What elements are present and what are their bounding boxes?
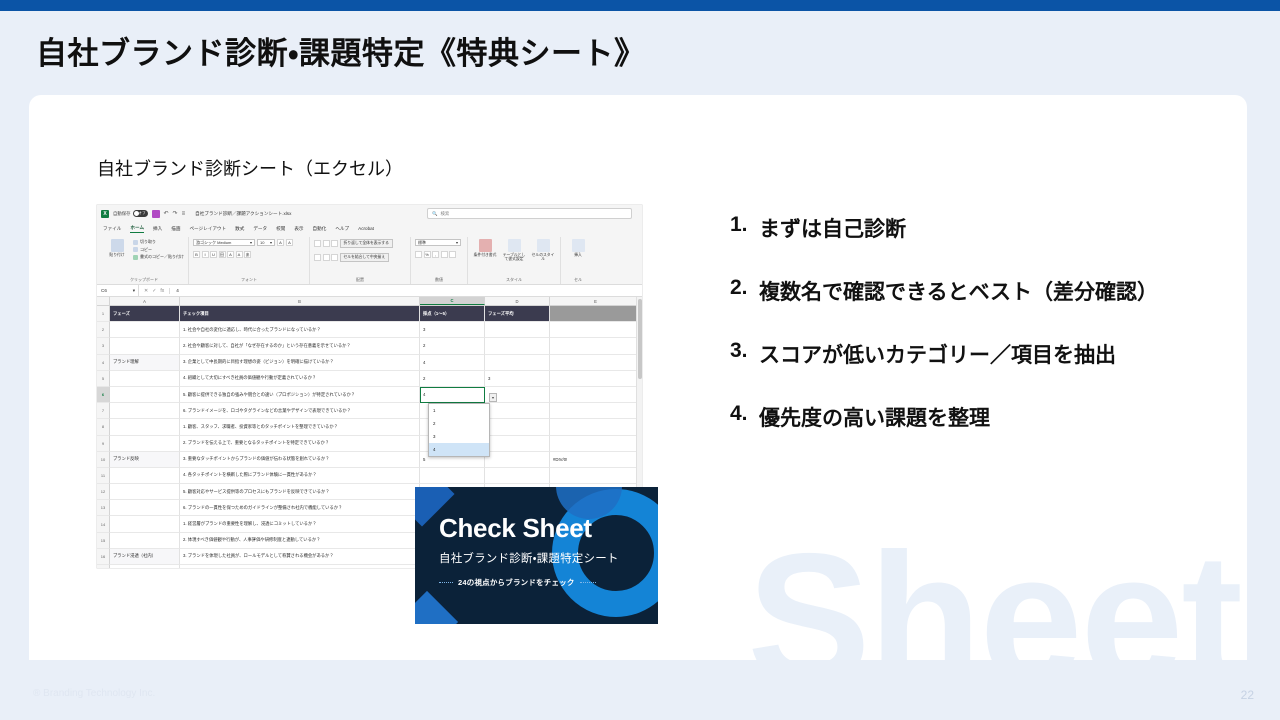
decorative-diamond-bottom-left xyxy=(415,591,458,624)
phonetic-button[interactable]: あ xyxy=(244,251,251,258)
row-header[interactable]: 1 xyxy=(97,306,110,322)
list-item-number: 1. xyxy=(730,213,759,237)
align-middle-button[interactable] xyxy=(323,240,330,247)
cancel-icon[interactable]: ✕ xyxy=(144,288,148,294)
copy-label: コピー xyxy=(140,247,152,253)
cell-phase[interactable] xyxy=(110,484,180,500)
cell-phase[interactable] xyxy=(110,533,180,549)
format-painter-button[interactable]: 書式のコピー／貼り付け xyxy=(133,254,184,260)
ribbon-tab-help[interactable]: ヘルプ xyxy=(335,226,349,232)
row-header[interactable]: 5 xyxy=(97,371,110,387)
footer-copyright: ® Branding Technology Inc. xyxy=(33,688,155,699)
cell-extra[interactable] xyxy=(550,468,642,484)
cell-check-item[interactable]: 4. 中間層がブランドを自分事として捉え、自らの言葉で語れる状態になっているか？ xyxy=(180,565,420,568)
ribbon-tab-home[interactable]: ホーム xyxy=(130,225,144,233)
list-item-text: まずは自己診断 xyxy=(759,213,906,243)
cell-check-item[interactable]: 3. 重要なタッチポイントからブランドの価値が伝わる状態を創れているか？ xyxy=(180,452,420,468)
table-row: 65. 顧客に提供できる独自の強みや競合との違い（プロポジション）が特定されてい… xyxy=(97,387,642,403)
list-item-number: 4. xyxy=(730,402,759,426)
font-color-button[interactable]: A xyxy=(236,251,243,258)
align-center-button[interactable] xyxy=(323,254,330,261)
wrap-text-button[interactable]: 折り返して全体を表示する xyxy=(340,239,393,248)
number-group-label: 数値 xyxy=(415,277,463,284)
font-grow-button[interactable]: A xyxy=(277,239,284,246)
copy-button[interactable]: コピー xyxy=(133,247,184,253)
row-header[interactable]: 10 xyxy=(97,452,110,468)
ribbon-tab-formulas[interactable]: 数式 xyxy=(235,226,244,232)
paintbrush-icon xyxy=(133,255,138,260)
column-headers: A B C D E xyxy=(97,297,642,306)
cell-check-item[interactable]: 1. 経営層がブランドの重要性を理解し、浸透にコミットしているか？ xyxy=(180,516,420,532)
ribbon-group-clipboard: 貼り付け 切り取り コピー xyxy=(100,237,189,284)
font-family-value: 游ゴシック Medium xyxy=(196,240,231,246)
row-header[interactable]: 12 xyxy=(97,484,110,500)
row-header[interactable]: 16 xyxy=(97,549,110,565)
list-item-number: 3. xyxy=(730,339,759,363)
check-sheet-title: Check Sheet xyxy=(439,515,658,541)
cell-check-item[interactable]: 2. 体現すべき価値観や行動が、人事評価や研修制度と連動しているか？ xyxy=(180,533,420,549)
cell-score[interactable]: 採点（1～5） xyxy=(420,306,485,322)
ribbon-group-alignment: 折り返して全体を表示する セルを結合して中央揃え 配置 xyxy=(310,237,411,284)
points-list: 1. まずは自己診断 2. 複数名で確認できるとベスト（差分確認） 3. スコア… xyxy=(730,213,1247,465)
paste-icon xyxy=(111,239,124,252)
slide-root: 自社ブランド診断・課題特定《特典シート》 Sheet 自社ブランド診断シート（エ… xyxy=(0,0,1280,720)
underline-button[interactable]: U xyxy=(210,251,217,258)
cell-extra[interactable] xyxy=(550,436,642,452)
cell-phase[interactable] xyxy=(110,419,180,435)
row-header[interactable]: 2 xyxy=(97,322,110,338)
table-icon xyxy=(508,239,521,252)
cell-score[interactable] xyxy=(420,468,485,484)
list-item: 1. まずは自己診断 xyxy=(730,213,1247,243)
excel-search-box[interactable]: 🔍 検索 xyxy=(427,208,632,219)
cell-score[interactable]: 3 xyxy=(420,322,485,338)
cut-button[interactable]: 切り取り xyxy=(133,239,184,245)
cell-extra[interactable] xyxy=(550,403,642,419)
format-as-table-button[interactable]: テーブルとして書式設定 xyxy=(501,239,527,262)
validation-dropdown[interactable]: 1 2 3 4 xyxy=(428,403,490,457)
search-placeholder: 検索 xyxy=(440,211,449,217)
table-row: 76. ブランドイメージを、ロゴやタグラインなどの言葉やデザインで表現できている… xyxy=(97,403,642,419)
select-all-corner[interactable] xyxy=(97,297,110,305)
currency-button[interactable] xyxy=(415,251,422,258)
chevron-down-icon: ▾ xyxy=(270,240,272,245)
cell-phase[interactable] xyxy=(110,338,180,354)
list-item: 4. 優先度の高い課題を整理 xyxy=(730,402,1247,432)
row-header[interactable]: 15 xyxy=(97,533,110,549)
cell-phase[interactable] xyxy=(110,403,180,419)
table-row: 10ブランド反映3. 重要なタッチポイントからブランドの価値が伝わる状態を創れて… xyxy=(97,452,642,468)
align-top-button[interactable] xyxy=(314,240,321,247)
cell-phase[interactable]: ブランド浸透（社内） xyxy=(110,549,180,565)
page-title: 自社ブランド診断・課題特定《特典シート》 xyxy=(36,28,646,73)
excel-caption: 自社ブランド診断シート（エクセル） xyxy=(97,155,403,181)
cell-extra[interactable]: #DIV/0! xyxy=(550,452,642,468)
ribbon-tab-automate[interactable]: 自動化 xyxy=(313,226,327,232)
cell-average[interactable] xyxy=(485,338,550,354)
content-card: Sheet 自社ブランド診断シート（エクセル） X 自動保存 オフ ↶ ↷ ≡ … xyxy=(29,95,1247,660)
cell-average[interactable]: フェーズ平均 xyxy=(485,306,550,322)
save-icon[interactable] xyxy=(152,210,160,218)
cell-check-item[interactable]: 1. 社会や自社の変化に適応し、時代に合ったブランドになっているか？ xyxy=(180,322,420,338)
table-row: 114. 各タッチポイントを横断した際にブランド体験に一貫性があるか？ xyxy=(97,468,642,484)
conditional-format-icon xyxy=(479,239,492,252)
search-icon: 🔍 xyxy=(432,211,437,217)
page-number: 22 xyxy=(1241,688,1254,702)
cell-phase[interactable]: フェーズ xyxy=(110,306,180,322)
enter-icon[interactable]: ✓ xyxy=(152,288,156,294)
paste-label: 貼り付け xyxy=(109,253,124,257)
merge-center-button[interactable]: セルを結合して中央揃え xyxy=(340,253,390,262)
number-format-value: 標準 xyxy=(418,240,426,246)
align-left-button[interactable] xyxy=(314,254,321,261)
cell-check-item[interactable]: 5. 顧客に提供できる独自の強みや競合との違い（プロポジション）が特定されている… xyxy=(180,387,420,403)
cell-phase[interactable] xyxy=(110,322,180,338)
conditional-format-label: 条件付き書式 xyxy=(474,253,497,257)
row-header[interactable]: 8 xyxy=(97,419,110,435)
ribbon-tab-data[interactable]: データ xyxy=(253,226,267,232)
copy-icon xyxy=(133,247,138,252)
font-size-select[interactable]: 10 ▾ xyxy=(257,239,275,246)
table-row: 21. 社会や自社の変化に適応し、時代に合ったブランドになっているか？3 xyxy=(97,322,642,338)
insert-cells-label: 挿入 xyxy=(574,253,582,257)
alignment-group-label: 配置 xyxy=(314,277,406,284)
cell-extra[interactable] xyxy=(550,371,642,387)
cell-extra[interactable] xyxy=(550,338,642,354)
chevron-down-icon: ▾ xyxy=(456,240,458,245)
cell-check-item[interactable]: 5. 顧客対応やサービス提供等のプロセスにもブランドを反映できているか？ xyxy=(180,484,420,500)
row-header[interactable]: 9 xyxy=(97,436,110,452)
row-header[interactable]: 13 xyxy=(97,500,110,516)
table-row: 54. 組織として大切にすべき社員の価値観や行動が定義されているか？23 xyxy=(97,371,642,387)
top-accent-bar xyxy=(0,0,1280,11)
list-item-number: 2. xyxy=(730,276,759,300)
row-header[interactable]: 4 xyxy=(97,355,110,371)
font-shrink-button[interactable]: A xyxy=(286,239,293,246)
qat-more-icon[interactable]: ≡ xyxy=(182,211,186,217)
ribbon-tab-acrobat[interactable]: Acrobat xyxy=(358,226,374,231)
column-header-b[interactable]: B xyxy=(180,297,420,305)
formula-bar-controls: ✕ ✓ fx xyxy=(139,288,170,294)
ribbon-group-cells: 挿入 セル xyxy=(561,237,595,284)
insert-function-icon[interactable]: fx xyxy=(160,288,164,294)
cell-styles-button[interactable]: セルのスタイル xyxy=(530,239,556,262)
ribbon-group-number: 標準 ▾ % , 数値 xyxy=(411,237,468,284)
cell-phase[interactable]: ブランド理解 xyxy=(110,355,180,371)
ribbon-tab-review[interactable]: 校閲 xyxy=(276,226,285,232)
chevron-down-icon: ▾ xyxy=(133,288,135,294)
format-as-table-label: テーブルとして書式設定 xyxy=(501,253,527,262)
cell-phase[interactable] xyxy=(110,468,180,484)
cell-phase[interactable]: ブランド反映 xyxy=(110,452,180,468)
cut-label: 切り取り xyxy=(140,239,156,245)
cell-phase[interactable] xyxy=(110,500,180,516)
dropdown-option-4[interactable]: 4 xyxy=(429,443,489,456)
cell-check-item[interactable]: 2. ブランドを伝える上で、重要となるタッチポイントを特定できているか？ xyxy=(180,436,420,452)
dropdown-option-1[interactable]: 1 xyxy=(429,404,489,417)
conditional-format-button[interactable]: 条件付き書式 xyxy=(472,239,498,257)
row-header[interactable]: 14 xyxy=(97,516,110,532)
table-row: 4ブランド理解3. 企業として中長期的に目指す理想の姿（ビジョン）を明確に描けて… xyxy=(97,355,642,371)
align-bottom-button[interactable] xyxy=(331,240,338,247)
table-row: 32. 社会や顧客に対して、自社が「なぜ存在するのか」という存在意義を示せている… xyxy=(97,338,642,354)
scissors-icon xyxy=(133,240,138,245)
fill-color-button[interactable]: A xyxy=(227,251,234,258)
cell-phase[interactable] xyxy=(110,387,180,403)
cell-extra[interactable] xyxy=(550,322,642,338)
name-box[interactable]: C6 ▾ xyxy=(97,285,139,296)
cell-average[interactable] xyxy=(485,419,550,435)
formula-bar: C6 ▾ ✕ ✓ fx 4 xyxy=(97,285,642,297)
list-item: 3. スコアが低いカテゴリー／項目を抽出 xyxy=(730,339,1247,369)
borders-button[interactable]: 田 xyxy=(219,251,226,258)
autosave-toggle[interactable]: オフ xyxy=(133,210,148,217)
list-item-text: 複数名で確認できるとベスト（差分確認） xyxy=(759,276,1158,306)
cell-extra[interactable] xyxy=(550,419,642,435)
watermark-text: Sheet xyxy=(747,527,1241,660)
cell-styles-label: セルのスタイル xyxy=(530,253,556,262)
ribbon-group-styles: 条件付き書式 テーブルとして書式設定 セルのスタイル スタイル xyxy=(468,237,561,284)
cell-check-item[interactable]: 1. 顧客、スタッフ、求職者、投資家等とのタッチポイントを整理できているか？ xyxy=(180,419,420,435)
bold-button[interactable]: B xyxy=(193,251,200,258)
ribbon-tab-draw[interactable]: 描画 xyxy=(171,226,180,232)
decrease-decimal-button[interactable] xyxy=(449,251,456,258)
cell-average[interactable] xyxy=(485,322,550,338)
list-item-text: 優先度の高い課題を整理 xyxy=(759,402,990,432)
check-sheet-tagline-row: 24の視点からブランドをチェック xyxy=(439,577,658,588)
ribbon: 貼り付け 切り取り コピー xyxy=(97,235,642,285)
autosave-toggle-state: オフ xyxy=(138,211,145,216)
cell-average[interactable]: 3 xyxy=(485,371,550,387)
check-sheet-cover-card: Check Sheet 自社ブランド診断・課題特定シート 24の視点からブランド… xyxy=(415,487,658,624)
font-family-select[interactable]: 游ゴシック Medium ▾ xyxy=(193,239,255,246)
cell-check-item[interactable]: 6. ブランドの一貫性を保つためのガイドラインが整備され社内で機能しているか？ xyxy=(180,500,420,516)
column-header-d[interactable]: D xyxy=(485,297,550,305)
list-item: 2. 複数名で確認できるとベスト（差分確認） xyxy=(730,276,1247,306)
tagline-rule-left xyxy=(439,582,453,583)
autosave-control[interactable]: 自動保存 オフ xyxy=(113,210,148,217)
row-header[interactable]: 7 xyxy=(97,403,110,419)
cell-score[interactable]: 2 xyxy=(420,338,485,354)
excel-app-icon: X xyxy=(101,210,109,218)
validation-dropdown-arrow[interactable]: ▾ xyxy=(489,393,497,402)
table-row: 92. ブランドを伝える上で、重要となるタッチポイントを特定できているか？ xyxy=(97,436,642,452)
ribbon-tab-pagelayout[interactable]: ページレイアウト xyxy=(189,226,226,232)
paste-button[interactable]: 貼り付け xyxy=(104,239,130,257)
cell-average[interactable] xyxy=(485,452,550,468)
ribbon-tab-insert[interactable]: 挿入 xyxy=(153,226,162,232)
tagline-rule-right xyxy=(580,582,596,583)
cell-check-item[interactable]: 6. ブランドイメージを、ロゴやタグラインなどの言葉やデザインで表現できているか… xyxy=(180,403,420,419)
scrollbar-thumb[interactable] xyxy=(638,299,642,379)
cell-score[interactable]: 4 xyxy=(420,355,485,371)
cell-score[interactable]: 4 xyxy=(420,387,485,403)
column-header-a[interactable]: A xyxy=(110,297,180,305)
cell-extra[interactable] xyxy=(550,306,642,322)
cell-score[interactable]: 2 xyxy=(420,371,485,387)
excel-title-bar: X 自動保存 オフ ↶ ↷ ≡ 自社ブランド診断／課題アクションシート.xlsx… xyxy=(97,205,642,222)
format-painter-label: 書式のコピー／貼り付け xyxy=(140,254,184,260)
cell-average[interactable] xyxy=(485,355,550,371)
align-right-button[interactable] xyxy=(331,254,338,261)
row-header[interactable]: 17 xyxy=(97,565,110,568)
cell-check-item[interactable]: 3. 企業として中長期的に目指す理想の姿（ビジョン）を明確に描けているか？ xyxy=(180,355,420,371)
table-row: 81. 顧客、スタッフ、求職者、投資家等とのタッチポイントを整理できているか？ xyxy=(97,419,642,435)
insert-icon xyxy=(572,239,585,252)
formula-input[interactable]: 4 xyxy=(170,288,179,293)
check-sheet-tagline: 24の視点からブランドをチェック xyxy=(458,577,575,588)
cell-check-item[interactable]: 4. 各タッチポイントを横断した際にブランド体験に一貫性があるか？ xyxy=(180,468,420,484)
italic-button[interactable]: I xyxy=(202,251,209,258)
cell-average[interactable] xyxy=(485,436,550,452)
font-size-value: 10 xyxy=(260,240,264,245)
cell-phase[interactable] xyxy=(110,516,180,532)
ribbon-tab-file[interactable]: ファイル xyxy=(103,226,121,232)
cell-styles-icon xyxy=(537,239,550,252)
cell-average[interactable] xyxy=(485,403,550,419)
row-header[interactable]: 6 xyxy=(97,387,110,403)
dropdown-option-3[interactable]: 3 xyxy=(429,430,489,443)
percent-button[interactable]: % xyxy=(424,251,431,258)
row-header[interactable]: 3 xyxy=(97,338,110,354)
cell-extra[interactable] xyxy=(550,387,642,403)
redo-icon[interactable]: ↷ xyxy=(173,210,178,217)
styles-group-label: スタイル xyxy=(472,277,556,284)
undo-icon[interactable]: ↶ xyxy=(164,210,169,217)
ribbon-tabs[interactable]: ファイル ホーム 挿入 描画 ページレイアウト 数式 データ 校閲 表示 自動化… xyxy=(97,222,642,235)
list-item-text: スコアが低いカテゴリー／項目を抽出 xyxy=(759,339,1116,369)
check-sheet-subtitle: 自社ブランド診断・課題特定シート xyxy=(439,550,658,566)
cell-phase[interactable] xyxy=(110,371,180,387)
insert-cells-button[interactable]: 挿入 xyxy=(565,239,591,257)
column-header-e[interactable]: E xyxy=(550,297,642,305)
comma-button[interactable]: , xyxy=(432,251,439,258)
name-box-value: C6 xyxy=(101,288,107,293)
ribbon-tab-view[interactable]: 表示 xyxy=(294,226,303,232)
workbook-filename[interactable]: 自社ブランド診断／課題アクションシート.xlsx xyxy=(195,211,291,217)
chevron-down-icon: ▾ xyxy=(250,240,252,245)
clipboard-group-label: クリップボード xyxy=(104,277,184,284)
cell-extra[interactable] xyxy=(550,355,642,371)
cell-check-item[interactable]: 3. ブランドを体現した社員が、ロールモデルとして称賛される機会があるか？ xyxy=(180,549,420,565)
font-group-label: フォント xyxy=(193,277,305,284)
cell-check-item[interactable]: チェック項目 xyxy=(180,306,420,322)
grid-header-row: 1フェーズチェック項目採点（1～5）フェーズ平均 xyxy=(97,306,642,322)
cell-check-item[interactable]: 2. 社会や顧客に対して、自社が「なぜ存在するのか」という存在意義を示せているか… xyxy=(180,338,420,354)
increase-decimal-button[interactable] xyxy=(441,251,448,258)
cells-group-label: セル xyxy=(565,277,591,284)
column-header-c[interactable]: C xyxy=(420,297,485,305)
cell-average[interactable] xyxy=(485,468,550,484)
autosave-label: 自動保存 xyxy=(113,211,131,217)
number-format-select[interactable]: 標準 ▾ xyxy=(415,239,461,246)
cell-phase[interactable] xyxy=(110,436,180,452)
cell-phase[interactable] xyxy=(110,565,180,568)
ribbon-group-font: 游ゴシック Medium ▾ 10 ▾ A A xyxy=(189,237,310,284)
dropdown-option-2[interactable]: 2 xyxy=(429,417,489,430)
row-header[interactable]: 11 xyxy=(97,468,110,484)
cell-check-item[interactable]: 4. 組織として大切にすべき社員の価値観や行動が定義されているか？ xyxy=(180,371,420,387)
